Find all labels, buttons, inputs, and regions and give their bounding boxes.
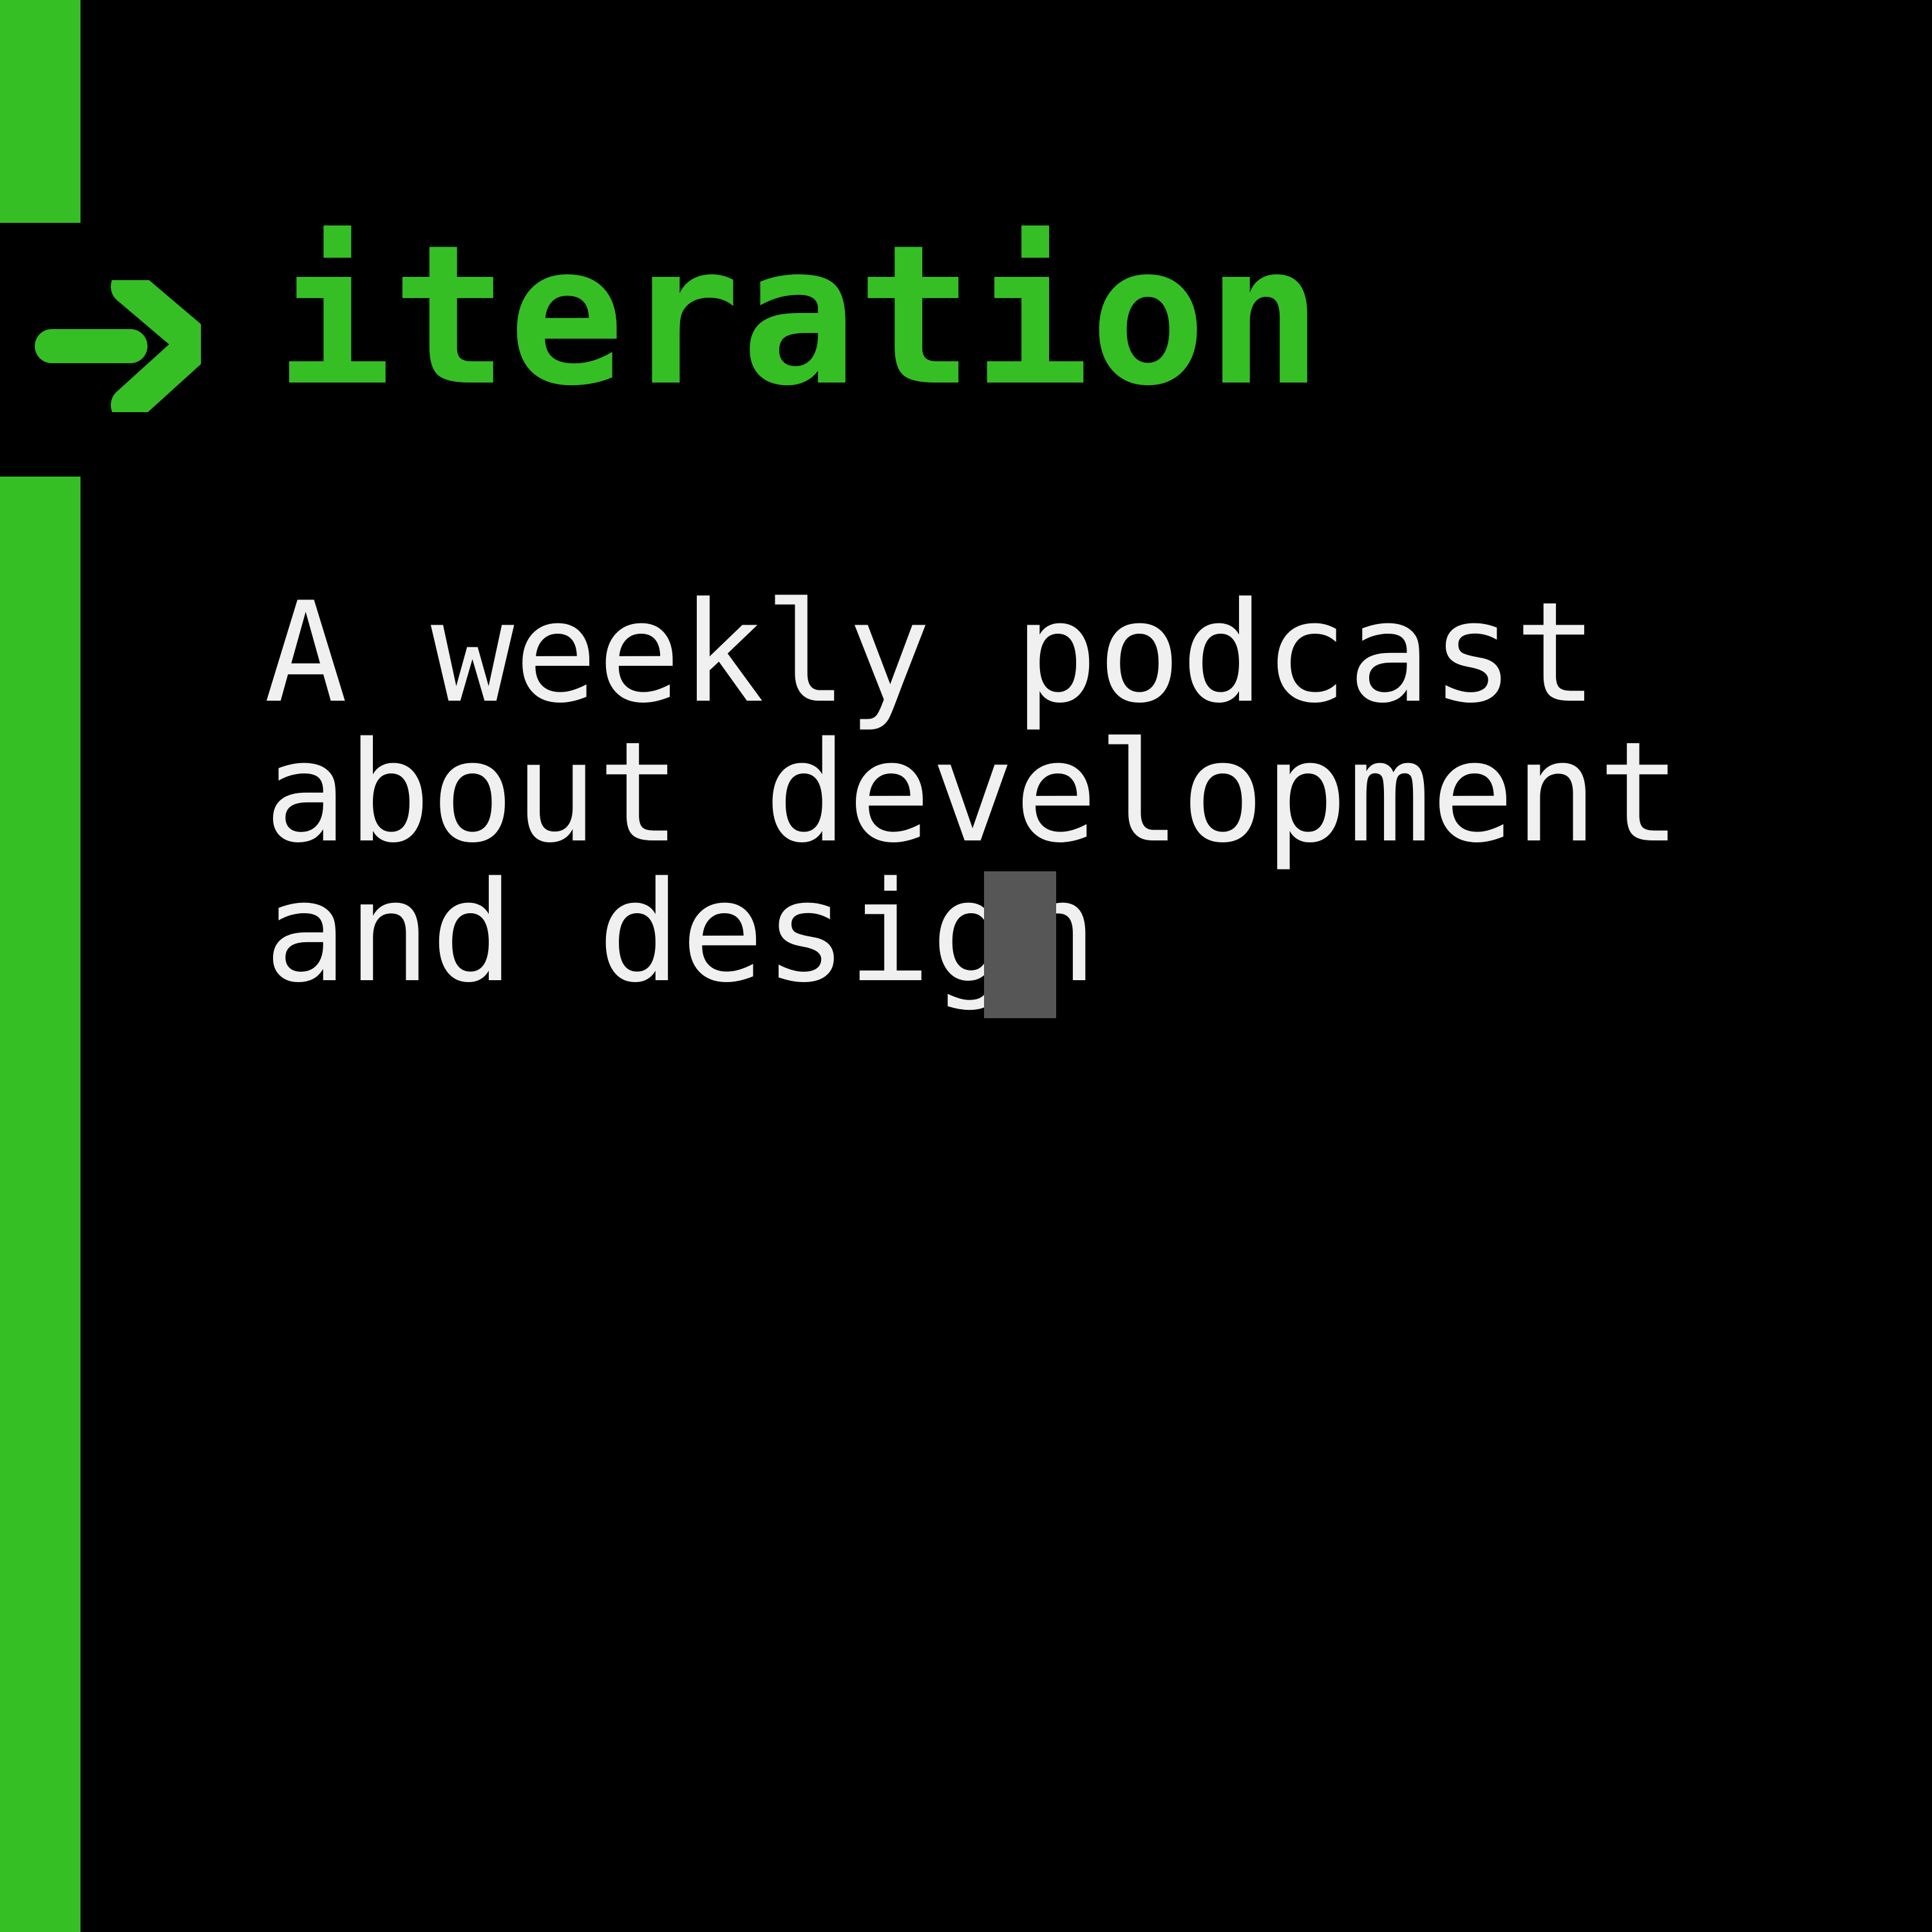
subtitle-line-3: and design xyxy=(264,862,1681,1002)
page-title: iteration xyxy=(276,220,1323,413)
left-accent-bar-top-segment xyxy=(0,0,80,223)
subtitle-line-1: A weekly podcast xyxy=(264,583,1681,723)
left-accent-bar-bottom-segment xyxy=(0,477,80,1932)
subtitle-block: A weekly podcast about development and d… xyxy=(264,583,1681,1002)
subtitle-line-2: about development xyxy=(264,723,1681,862)
podcast-cover-artwork: iteration A weekly podcast about develop… xyxy=(0,0,1932,1932)
arrow-right-icon xyxy=(32,280,201,412)
terminal-cursor xyxy=(984,871,1056,1018)
